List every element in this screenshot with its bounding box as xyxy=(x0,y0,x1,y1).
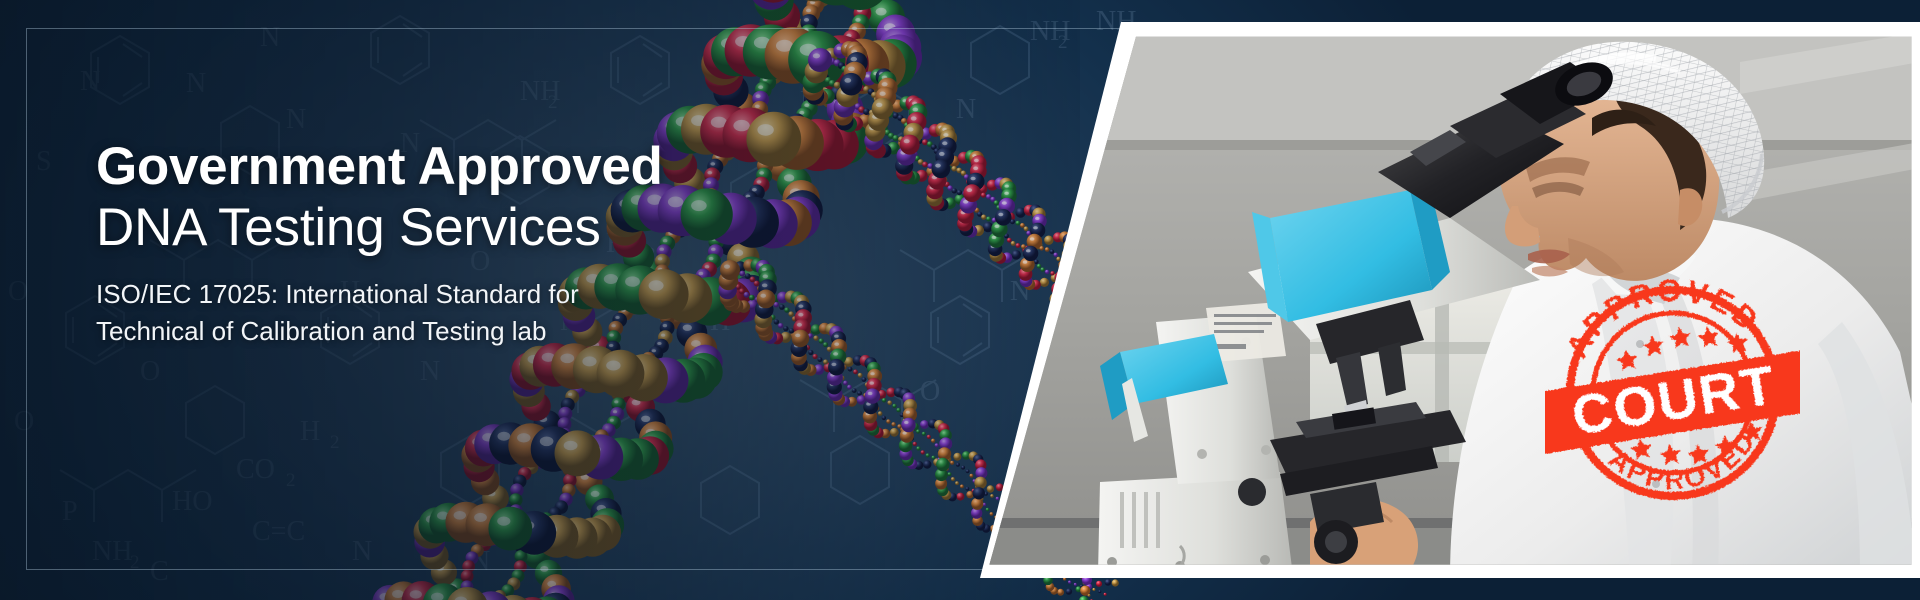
subtitle-line-1: ISO/IEC 17025: International Standard fo… xyxy=(96,276,856,313)
dna-testing-services-banner: S O O P NH HO CO H C=C N N N N N N NH N xyxy=(0,0,1920,600)
svg-text:N: N xyxy=(1010,276,1030,307)
svg-text:CO: CO xyxy=(236,454,275,485)
svg-text:N: N xyxy=(470,546,490,577)
svg-text:NH: NH xyxy=(92,536,132,567)
svg-text:O: O xyxy=(920,376,940,407)
headline-line-2: DNA Testing Services xyxy=(96,199,856,256)
headline-block: Government Approved DNA Testing Services… xyxy=(96,140,856,350)
svg-text:S: S xyxy=(36,146,52,177)
svg-text:N: N xyxy=(352,536,372,567)
svg-text:N: N xyxy=(286,104,306,135)
subtitle-block: ISO/IEC 17025: International Standard fo… xyxy=(96,276,856,350)
svg-text:N: N xyxy=(956,94,976,125)
photo-panel: APPROVED APPROVED xyxy=(980,22,1920,578)
svg-text:H: H xyxy=(300,416,320,447)
svg-text:N: N xyxy=(80,66,100,97)
svg-text:P: P xyxy=(62,496,78,527)
svg-text:C: C xyxy=(150,556,169,587)
svg-text:N: N xyxy=(866,36,886,67)
svg-text:N: N xyxy=(186,68,206,99)
svg-text:2: 2 xyxy=(548,92,558,113)
svg-text:2: 2 xyxy=(330,432,340,453)
svg-text:O: O xyxy=(140,356,160,387)
lab-technician-using-microscope-photo xyxy=(980,22,1920,578)
svg-text:NH: NH xyxy=(1030,16,1070,47)
svg-text:O: O xyxy=(8,276,28,307)
svg-text:2: 2 xyxy=(286,470,296,491)
svg-text:N: N xyxy=(420,356,440,387)
svg-text:N: N xyxy=(800,86,820,117)
svg-text:2: 2 xyxy=(130,552,140,573)
subtitle-line-2: Technical of Calibration and Testing lab xyxy=(96,313,856,350)
svg-text:O: O xyxy=(14,406,34,437)
svg-text:NH: NH xyxy=(520,76,560,107)
svg-text:N: N xyxy=(260,22,280,53)
svg-text:C=C: C=C xyxy=(252,516,305,547)
svg-text:HO: HO xyxy=(172,486,212,517)
headline-line-1: Government Approved xyxy=(96,140,856,195)
svg-text:2: 2 xyxy=(1058,32,1068,53)
